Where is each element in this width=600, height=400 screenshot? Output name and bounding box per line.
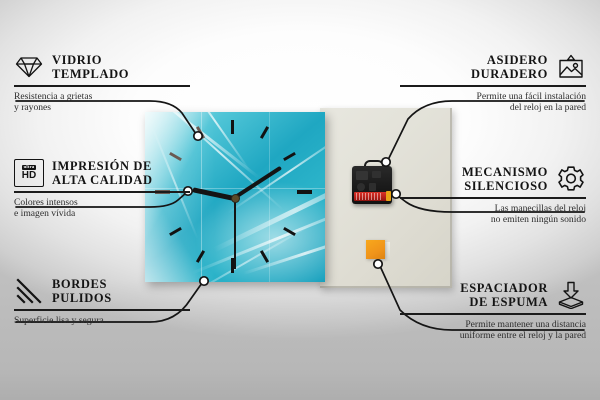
feature-callout-bordes-pulidos: BORDESPULIDOS Superficie lisa y segura — [14, 276, 190, 326]
gear-icon — [556, 164, 586, 194]
divider — [14, 191, 190, 193]
feature-callout-mecanismo-silencioso: MECANISMOSILENCIOSO Las manecillas del r… — [400, 164, 586, 225]
feature-title: VIDRIOTEMPLADO — [52, 53, 129, 81]
callout-header: ASIDERODURADERO — [400, 52, 586, 82]
divider — [400, 197, 586, 199]
diagonal-lines-icon — [14, 276, 44, 306]
feature-title: BORDESPULIDOS — [52, 277, 112, 305]
arrow-down-pad-icon — [556, 280, 586, 310]
connector-node-espaciador — [374, 260, 382, 268]
callout-header: MECANISMOSILENCIOSO — [400, 164, 586, 194]
feature-description: Permite mantener una distancia uniforme … — [400, 319, 586, 342]
connector-node-mecanismo — [392, 190, 400, 198]
feature-callout-impresion-alta-calidad: ultra HD IMPRESIÓN DEALTA CALIDAD Colore… — [14, 158, 190, 219]
feature-callout-espaciador-de-espuma: ESPACIADORDE ESPUMA Permite mantener una… — [400, 280, 586, 341]
diamond-icon — [14, 52, 44, 82]
feature-description: Resistencia a grietas y rayones — [14, 91, 190, 114]
callout-header: ESPACIADORDE ESPUMA — [400, 280, 586, 310]
feature-title: IMPRESIÓN DEALTA CALIDAD — [52, 159, 153, 187]
feature-description: Superficie lisa y segura — [14, 315, 190, 326]
framed-picture-icon — [556, 52, 586, 82]
feature-title: ESPACIADORDE ESPUMA — [460, 281, 548, 309]
divider — [14, 309, 190, 311]
feature-callout-vidrio-templado: VIDRIOTEMPLADO Resistencia a grietas y r… — [14, 52, 190, 113]
connector-node-vidrio — [194, 132, 202, 140]
divider — [14, 85, 190, 87]
callout-header: ultra HD IMPRESIÓN DEALTA CALIDAD — [14, 158, 190, 188]
feature-description: Permite una fácil instalación del reloj … — [400, 91, 586, 114]
connector-node-asidero — [382, 158, 390, 166]
divider — [400, 85, 586, 87]
feature-callout-asidero-duradero: ASIDERODURADERO Permite una fácil instal… — [400, 52, 586, 113]
feature-description: Colores intensos e imagen vívida — [14, 197, 190, 220]
connector-node-bordes — [200, 277, 208, 285]
infographic-canvas: VIDRIOTEMPLADO Resistencia a grietas y r… — [0, 0, 600, 400]
divider — [400, 313, 586, 315]
ultra-hd-icon: ultra HD — [14, 158, 44, 188]
callout-header: BORDESPULIDOS — [14, 276, 190, 306]
feature-description: Las manecillas del reloj no emiten ningú… — [400, 203, 586, 226]
callout-header: VIDRIOTEMPLADO — [14, 52, 190, 82]
feature-title: ASIDERODURADERO — [471, 53, 548, 81]
feature-title: MECANISMOSILENCIOSO — [462, 165, 548, 193]
hd-badge-label: HD — [22, 171, 36, 181]
